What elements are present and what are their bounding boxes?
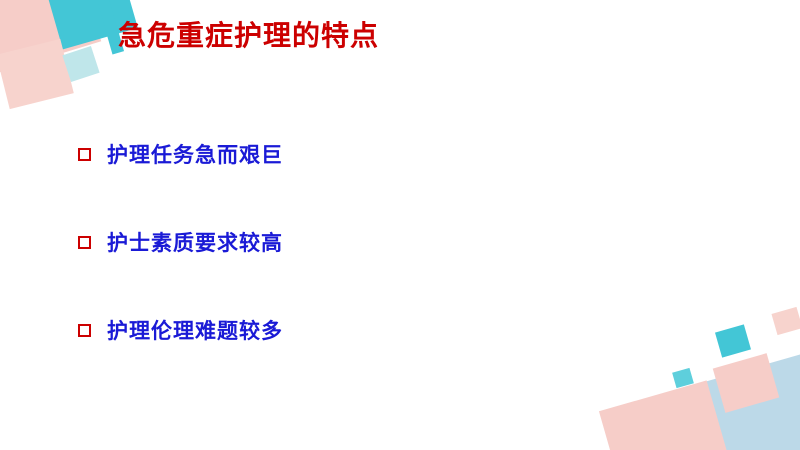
- list-item: 护理任务急而艰巨: [78, 110, 678, 198]
- list-item-label: 护理任务急而艰巨: [107, 139, 283, 169]
- list-item-label: 护士素质要求较高: [107, 227, 283, 257]
- decor-pink-rect-bottom-right: [599, 380, 733, 450]
- square-outline-bullet-icon: [78, 148, 91, 161]
- list-item-label: 护理伦理难题较多: [107, 315, 283, 345]
- decor-pink-square-top-left: [0, 39, 74, 109]
- list-item: 护理伦理难题较多: [78, 286, 678, 374]
- slide-title: 急危重症护理的特点: [118, 14, 379, 54]
- decor-pink-rect-top-left: [0, 0, 101, 79]
- decor-blue-rect-bottom-right: [679, 348, 800, 450]
- decor-pink-tiny-square-bottom-right: [771, 307, 800, 335]
- decor-teal-square-bottom-right: [715, 324, 751, 357]
- decor-light-teal-square-top-left: [62, 46, 99, 82]
- square-outline-bullet-icon: [78, 236, 91, 249]
- list-item: 护士素质要求较高: [78, 198, 678, 286]
- square-outline-bullet-icon: [78, 324, 91, 337]
- slide: 急危重症护理的特点 护理任务急而艰巨 护士素质要求较高 护理伦理难题较多: [0, 0, 800, 450]
- decor-pink-square-bottom-right: [713, 353, 780, 413]
- bullet-list: 护理任务急而艰巨 护士素质要求较高 护理伦理难题较多: [78, 110, 678, 374]
